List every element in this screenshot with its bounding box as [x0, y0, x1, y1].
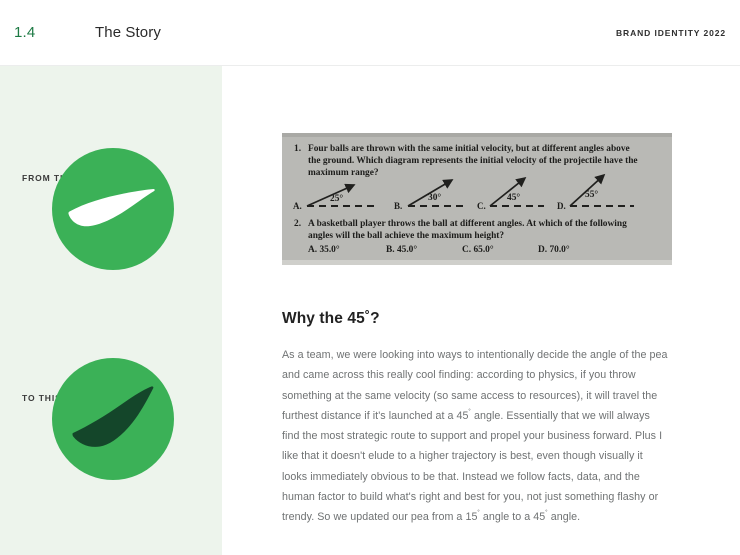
body-part-4: angle.	[548, 511, 580, 523]
page-title: The Story	[95, 24, 161, 41]
svg-text:C. 65.0°: C. 65.0°	[462, 244, 494, 255]
body-part-3: angle to a 45	[480, 511, 545, 523]
svg-text:1.: 1.	[294, 144, 301, 154]
brand-label: BRAND IDENTITY 2022	[616, 28, 726, 38]
svg-text:2.: 2.	[294, 219, 301, 229]
section-body: As a team, we were looking into ways to …	[282, 345, 670, 528]
svg-text:C.: C.	[477, 201, 486, 211]
svg-text:Four balls are thrown with the: Four balls are thrown with the same init…	[308, 144, 630, 154]
slide-page: 1.4 The Story BRAND IDENTITY 2022 FROM T…	[0, 0, 740, 555]
svg-text:30°: 30°	[428, 192, 441, 203]
page-number: 1.4	[14, 24, 35, 41]
svg-text:D.: D.	[557, 201, 566, 211]
svg-text:B. 45.0°: B. 45.0°	[386, 244, 417, 255]
svg-text:45°: 45°	[507, 192, 520, 203]
section-heading: Why the 45˚?	[282, 310, 380, 328]
svg-text:D. 70.0°: D. 70.0°	[538, 244, 570, 255]
svg-text:25°: 25°	[330, 193, 343, 204]
comparison-sidebar: FROM THIS TO THIS	[0, 66, 222, 555]
svg-text:B.: B.	[394, 201, 402, 211]
svg-text:angles will the ball achieve t: angles will the ball achieve the maximum…	[308, 231, 504, 241]
svg-text:maximum range?: maximum range?	[308, 168, 379, 178]
page-header: 1.4 The Story BRAND IDENTITY 2022	[0, 0, 740, 66]
svg-text:A. 35.0°: A. 35.0°	[308, 244, 340, 255]
scan-content: 1. Four balls are thrown with the same i…	[282, 133, 672, 265]
svg-text:55°: 55°	[585, 189, 598, 200]
pea-logo-old	[52, 148, 174, 270]
svg-text:the ground. Which diagram repr: the ground. Which diagram represents the…	[308, 156, 638, 166]
scanned-worksheet-image: 1. Four balls are thrown with the same i…	[282, 133, 672, 265]
body-part-2: angle. Essentially that we will always f…	[282, 410, 662, 523]
svg-text:A basketball player throws the: A basketball player throws the ball at d…	[308, 219, 627, 229]
svg-text:A.: A.	[293, 201, 302, 211]
pea-logo-new	[52, 358, 174, 480]
